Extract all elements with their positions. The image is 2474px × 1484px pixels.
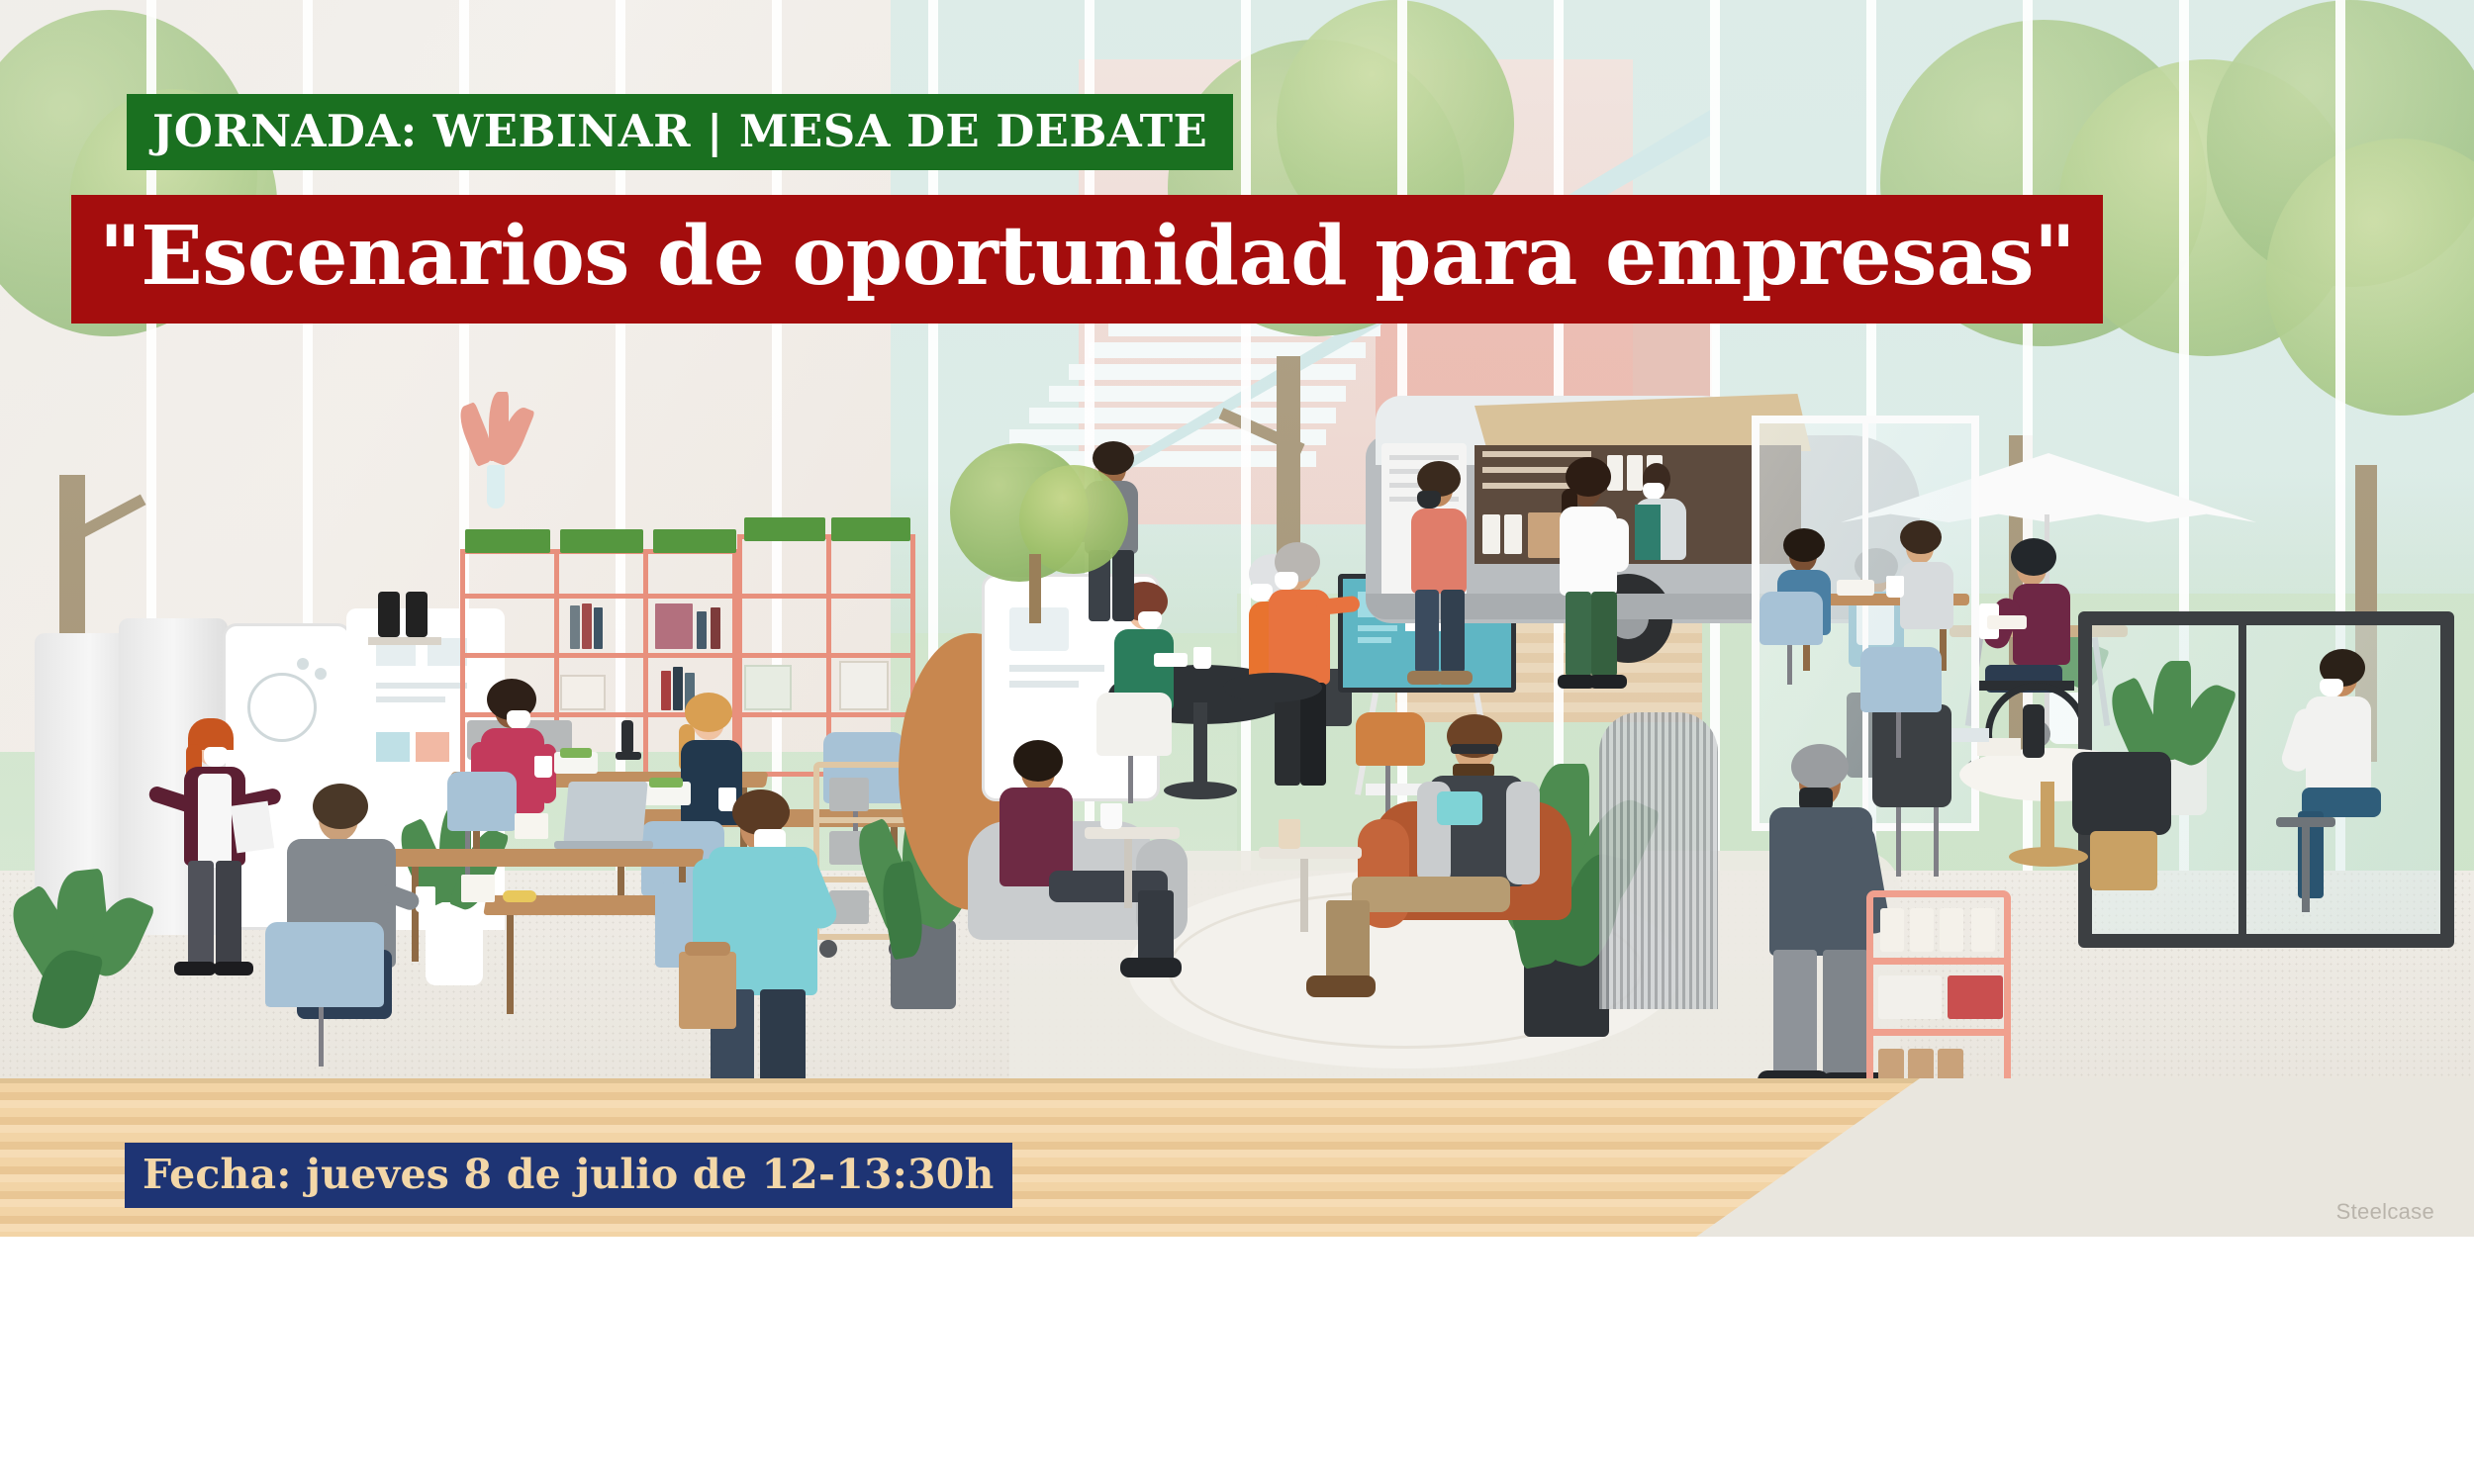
acoustic-divider xyxy=(1599,712,1718,1009)
sponsors-footer: Organiza: Colaboran: CEEI CASTELLÓN CENT… xyxy=(0,1237,2474,1484)
office-illustration: Steelcase xyxy=(0,0,2474,1237)
event-type-banner: JORNADA: WEBINAR | MESA DE DEBATE xyxy=(127,94,1233,170)
steelcase-watermark: Steelcase xyxy=(2336,1199,2434,1225)
event-date-banner: Fecha: jueves 8 de julio de 12-13:30h xyxy=(125,1143,1012,1208)
poster-root: Steelcase JORNADA: WEBINAR | MESA DE DEB… xyxy=(0,0,2474,1484)
poster-title-banner: "Escenarios de oportunidad para empresas… xyxy=(71,195,2103,324)
